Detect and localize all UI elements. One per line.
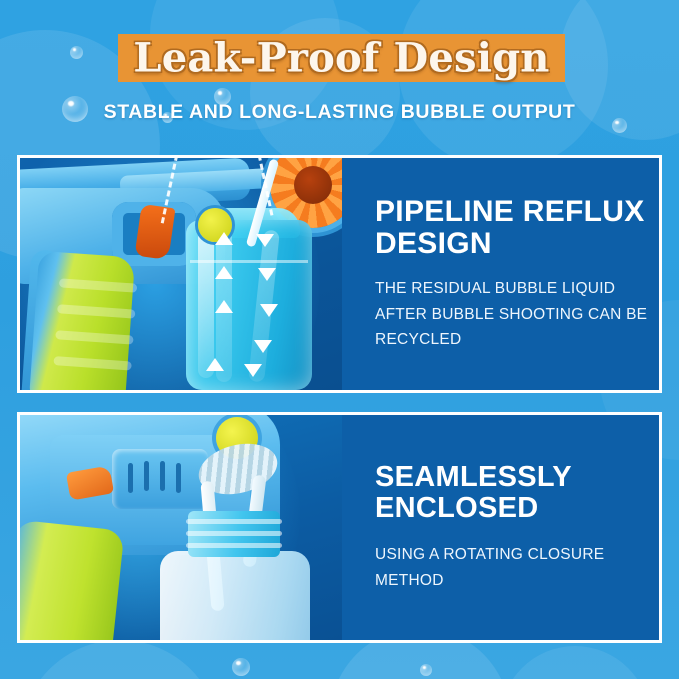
page-subtitle: STABLE AND LONG-LASTING BUBBLE OUTPUT [0,101,679,124]
flow-arrow-up-icon [215,232,233,245]
vent-slot [160,461,165,491]
grip-ridge [53,356,131,370]
flow-arrow-up-icon [215,266,233,279]
feature-body: THE RESIDUAL BUBBLE LIQUID AFTER BUBBLE … [375,276,649,351]
grip-ridge [55,330,133,344]
vent-slot [128,463,133,493]
product-photo-pipeline-reflux [20,158,342,390]
flow-arrow-up-icon [215,300,233,313]
header: Leak-Proof Design STABLE AND LONG-LASTIN… [0,0,679,150]
flow-arrow-up-icon [206,358,224,371]
feature-heading: PIPELINE REFLUX DESIGN [375,196,649,260]
gun-grip [20,520,124,640]
neck-thread [186,543,282,548]
product-photo-seamlessly-enclosed [20,415,342,640]
bottle-highlight [198,228,214,378]
feature-copy-seamlessly-enclosed: SEAMLESSLY ENCLOSED USING A ROTATING CLO… [342,415,659,640]
vent-slot [144,461,149,491]
feature-body: USING A ROTATING CLOSURE METHOD [375,542,649,592]
flow-arrow-down-icon [244,364,262,377]
bottle-body [160,551,310,640]
title-band: Leak-Proof Design [118,34,565,82]
grip-ridge [57,304,135,318]
neck-thread [186,531,282,536]
flow-arrow-down-icon [254,340,272,353]
gun-grip [29,251,135,390]
orange-spiral-core-icon [294,166,332,204]
vent-slot [176,463,181,493]
flow-arrow-down-icon [256,234,274,247]
flow-arrow-down-icon [260,304,278,317]
liquid-level-line [190,260,308,263]
grip-ridge [59,278,137,292]
neck-thread [186,519,282,524]
feature-panel-seamlessly-enclosed: SEAMLESSLY ENCLOSED USING A ROTATING CLO… [17,412,662,643]
page-title: Leak-Proof Design [118,35,565,82]
flow-arrow-down-icon [258,268,276,281]
feature-heading: SEAMLESSLY ENCLOSED [375,462,649,524]
feature-panel-pipeline-reflux-design: PIPELINE REFLUX DESIGN THE RESIDUAL BUBB… [17,155,662,393]
feature-copy-pipeline-reflux: PIPELINE REFLUX DESIGN THE RESIDUAL BUBB… [342,158,659,390]
gun-vent-housing [112,449,208,509]
